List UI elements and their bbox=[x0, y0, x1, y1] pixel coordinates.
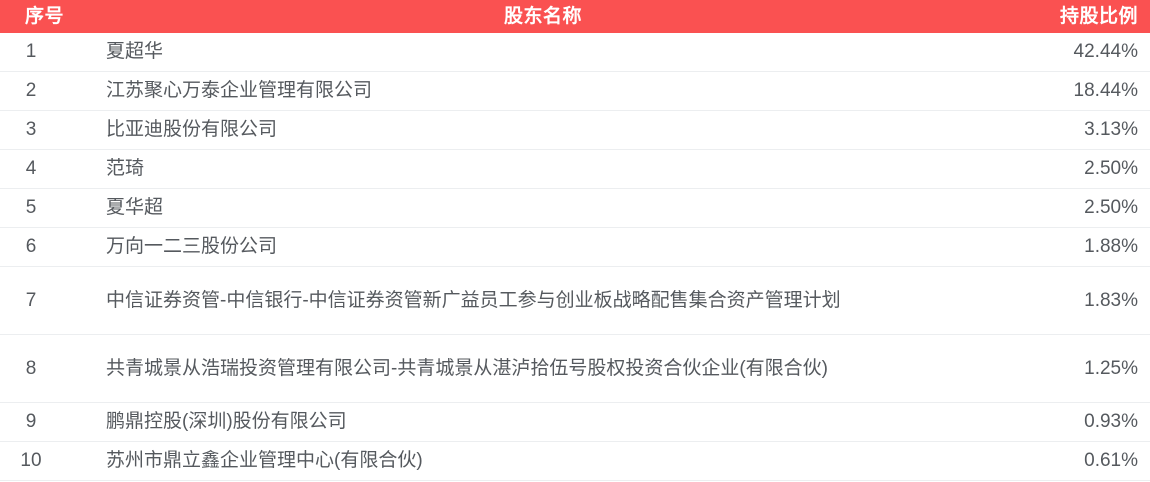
table-header: 序号 股东名称 持股比例 bbox=[0, 0, 1150, 33]
cell-shareholder-name: 范琦 bbox=[88, 150, 998, 189]
cell-index: 10 bbox=[0, 442, 88, 481]
cell-holding-ratio: 2.50% bbox=[998, 189, 1150, 228]
table-row: 6 万向一二三股份公司 1.88% bbox=[0, 228, 1150, 267]
cell-index: 6 bbox=[0, 228, 88, 267]
cell-shareholder-name: 夏超华 bbox=[88, 33, 998, 72]
cell-shareholder-name: 苏州市鼎立鑫企业管理中心(有限合伙) bbox=[88, 442, 998, 481]
shareholder-table: 序号 股东名称 持股比例 1 夏超华 42.44% 2 江苏聚心万泰企业管理有限… bbox=[0, 0, 1150, 481]
cell-index: 7 bbox=[0, 267, 88, 335]
table-row: 3 比亚迪股份有限公司 3.13% bbox=[0, 111, 1150, 150]
cell-index: 1 bbox=[0, 33, 88, 72]
cell-holding-ratio: 1.88% bbox=[998, 228, 1150, 267]
cell-holding-ratio: 0.93% bbox=[998, 403, 1150, 442]
cell-index: 3 bbox=[0, 111, 88, 150]
table-body: 1 夏超华 42.44% 2 江苏聚心万泰企业管理有限公司 18.44% 3 比… bbox=[0, 33, 1150, 481]
table-row: 10 苏州市鼎立鑫企业管理中心(有限合伙) 0.61% bbox=[0, 442, 1150, 481]
cell-holding-ratio: 2.50% bbox=[998, 150, 1150, 189]
table-row: 1 夏超华 42.44% bbox=[0, 33, 1150, 72]
cell-holding-ratio: 18.44% bbox=[998, 72, 1150, 111]
cell-shareholder-name: 中信证券资管-中信银行-中信证券资管新广益员工参与创业板战略配售集合资产管理计划 bbox=[88, 267, 998, 335]
cell-index: 2 bbox=[0, 72, 88, 111]
cell-holding-ratio: 3.13% bbox=[998, 111, 1150, 150]
cell-shareholder-name: 夏华超 bbox=[88, 189, 998, 228]
cell-holding-ratio: 42.44% bbox=[998, 33, 1150, 72]
table-row: 7 中信证券资管-中信银行-中信证券资管新广益员工参与创业板战略配售集合资产管理… bbox=[0, 267, 1150, 335]
column-header-shareholder-name: 股东名称 bbox=[88, 0, 998, 33]
column-header-index: 序号 bbox=[0, 0, 88, 33]
cell-index: 5 bbox=[0, 189, 88, 228]
cell-holding-ratio: 0.61% bbox=[998, 442, 1150, 481]
table-row: 9 鹏鼎控股(深圳)股份有限公司 0.93% bbox=[0, 403, 1150, 442]
cell-index: 8 bbox=[0, 335, 88, 403]
cell-holding-ratio: 1.83% bbox=[998, 267, 1150, 335]
cell-shareholder-name: 万向一二三股份公司 bbox=[88, 228, 998, 267]
cell-index: 4 bbox=[0, 150, 88, 189]
table-row: 2 江苏聚心万泰企业管理有限公司 18.44% bbox=[0, 72, 1150, 111]
cell-shareholder-name: 江苏聚心万泰企业管理有限公司 bbox=[88, 72, 998, 111]
cell-shareholder-name: 鹏鼎控股(深圳)股份有限公司 bbox=[88, 403, 998, 442]
table-row: 4 范琦 2.50% bbox=[0, 150, 1150, 189]
table-header-row: 序号 股东名称 持股比例 bbox=[0, 0, 1150, 33]
cell-shareholder-name: 比亚迪股份有限公司 bbox=[88, 111, 998, 150]
column-header-holding-ratio: 持股比例 bbox=[998, 0, 1150, 33]
table-row: 5 夏华超 2.50% bbox=[0, 189, 1150, 228]
cell-holding-ratio: 1.25% bbox=[998, 335, 1150, 403]
cell-shareholder-name: 共青城景从浩瑞投资管理有限公司-共青城景从湛泸拾伍号股权投资合伙企业(有限合伙) bbox=[88, 335, 998, 403]
cell-index: 9 bbox=[0, 403, 88, 442]
table-row: 8 共青城景从浩瑞投资管理有限公司-共青城景从湛泸拾伍号股权投资合伙企业(有限合… bbox=[0, 335, 1150, 403]
